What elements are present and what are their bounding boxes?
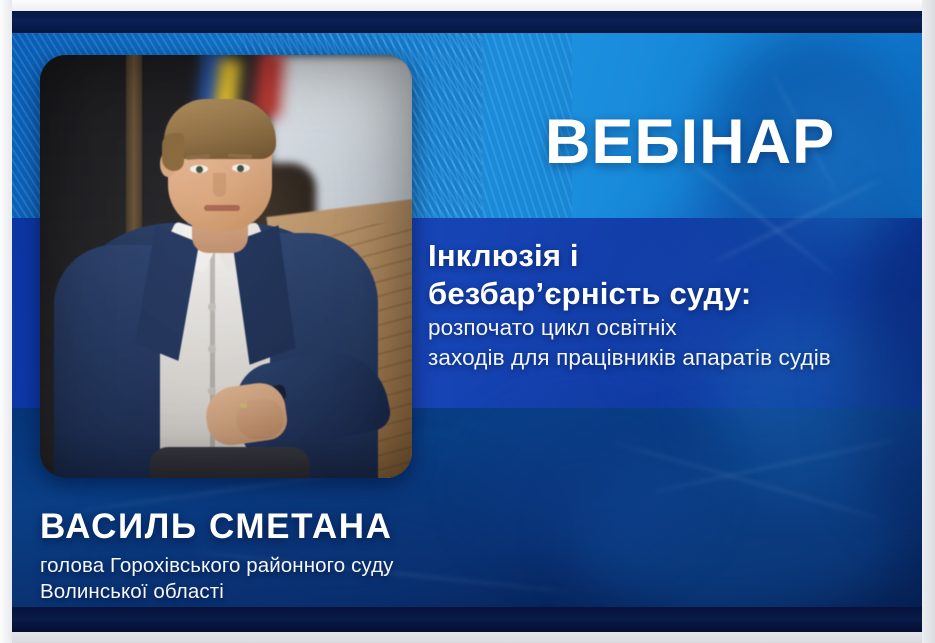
banner-subtitle-block: Інклюзія і безбар’єрність суду: розпочат… (428, 237, 922, 372)
photo-vignette (40, 55, 412, 478)
top-navy-band (12, 11, 922, 33)
page-margin-right (922, 0, 935, 643)
banner-title: ВЕБІНАР (490, 111, 890, 174)
subtitle-light-line-2: заходів для працівників апаратів судів (428, 343, 922, 373)
speaker-info-block: ВАСИЛЬ СМЕТАНА голова Горохівського райо… (40, 508, 560, 605)
subtitle-light-line-1: розпочато цикл освітніх (428, 313, 922, 343)
subtitle-bold-line-2: безбар’єрність суду: (428, 275, 922, 313)
bottom-navy-band (12, 607, 922, 632)
subtitle-bold-line-1: Інклюзія і (428, 237, 922, 275)
speaker-role-line-2: Волинської області (40, 579, 560, 605)
speaker-photo (40, 55, 412, 478)
page-margin-bottom (0, 632, 935, 643)
page-margin-left (0, 0, 12, 643)
page-margin-top (0, 0, 935, 11)
webinar-banner: ВЕБІНАР Інклюзія і безбар’єрність суду: … (0, 0, 935, 643)
banner-canvas: ВЕБІНАР Інклюзія і безбар’єрність суду: … (12, 11, 922, 632)
speaker-name: ВАСИЛЬ СМЕТАНА (40, 508, 560, 547)
speaker-role-line-1: голова Горохівського районного суду (40, 553, 560, 579)
